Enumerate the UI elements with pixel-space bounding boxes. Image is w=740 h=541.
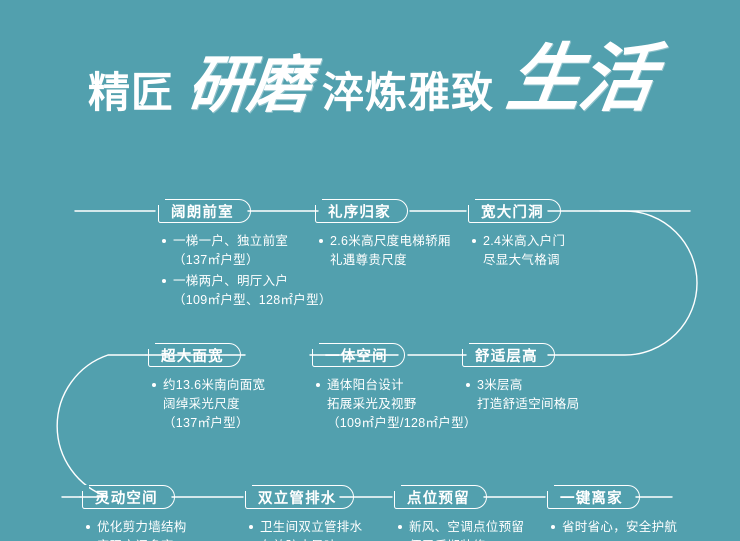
bullet-sub-line: 实现空间多变 bbox=[97, 537, 187, 541]
headline-segment-4: 生活 bbox=[503, 42, 657, 116]
bullet-sub-line: 礼遇尊贵尺度 bbox=[330, 251, 451, 270]
bullet-main-line: 新风、空调点位预留 bbox=[409, 518, 524, 537]
feature-bullets: 新风、空调点位预留 便于后期装修 bbox=[394, 518, 524, 541]
bullet-dot-icon bbox=[319, 239, 323, 243]
bullet-main-line: 卫生间双立管排水 bbox=[260, 518, 362, 537]
bullet-main-line: 一梯两户、明厅入户 bbox=[173, 272, 332, 291]
bullet-text: 卫生间双立管排水 有效防止异味 bbox=[260, 518, 362, 541]
bullet-item: 一梯一户、独立前室 （137㎡户型） bbox=[162, 232, 332, 270]
page-title: 精匠 研磨 淬炼雅致 生活 bbox=[0, 34, 740, 144]
bullet-text: 新风、空调点位预留 便于后期装修 bbox=[409, 518, 524, 541]
feature-block-kuanda-mendong[interactable]: 宽大门洞 2.4米高入户门 尽显大气格调 bbox=[468, 199, 565, 272]
bullet-text: 2.4米高入户门 尽显大气格调 bbox=[483, 232, 565, 270]
feature-label-chip[interactable]: 灵动空间 bbox=[82, 485, 175, 509]
feature-block-kuolang-qianshi[interactable]: 阔朗前室 一梯一户、独立前室 （137㎡户型） 一梯两户、明厅入户 （109㎡户… bbox=[158, 199, 332, 312]
bullet-dot-icon bbox=[249, 525, 253, 529]
feature-block-yiti-kongjian[interactable]: 一体空间 通体阳台设计 拓展采光及视野 （109㎡户型/128㎡户型） bbox=[312, 343, 477, 435]
bullet-item: 约13.6米南向面宽 阔绰采光尺度 （137㎡户型） bbox=[152, 376, 265, 433]
bullet-main-line: 一梯一户、独立前室 bbox=[173, 232, 332, 251]
feature-bullets: 优化剪力墙结构 实现空间多变 bbox=[82, 518, 187, 541]
feature-block-lixu-guijia[interactable]: 礼序归家 2.6米高尺度电梯轿厢 礼遇尊贵尺度 bbox=[315, 199, 451, 272]
bullet-item: 2.4米高入户门 尽显大气格调 bbox=[472, 232, 565, 270]
bullet-sub-line: （137㎡户型） bbox=[163, 414, 265, 433]
bullet-main-line: 2.4米高入户门 bbox=[483, 232, 565, 251]
bullet-dot-icon bbox=[86, 525, 90, 529]
bullet-dot-icon bbox=[472, 239, 476, 243]
feature-block-dianwei-yuliu[interactable]: 点位预留 新风、空调点位预留 便于后期装修 bbox=[394, 485, 524, 541]
bullet-sub-line: 便于后期装修 bbox=[409, 537, 524, 541]
bullet-dot-icon bbox=[466, 383, 470, 387]
feature-label-chip[interactable]: 舒适层高 bbox=[462, 343, 555, 367]
feature-label-chip[interactable]: 阔朗前室 bbox=[158, 199, 251, 223]
bullet-item: 省时省心，安全护航 bbox=[551, 518, 677, 537]
feature-bullets: 3米层高 打造舒适空间格局 bbox=[462, 376, 579, 414]
connector-left-uturn bbox=[57, 355, 146, 497]
bullet-item: 2.6米高尺度电梯轿厢 礼遇尊贵尺度 bbox=[319, 232, 451, 270]
feature-label-chip[interactable]: 双立管排水 bbox=[245, 485, 354, 509]
feature-bullets: 2.4米高入户门 尽显大气格调 bbox=[468, 232, 565, 270]
bullet-sub-line: （109㎡户型/128㎡户型） bbox=[327, 414, 477, 433]
headline-segment-2: 研磨 bbox=[185, 54, 312, 116]
bullet-text: 优化剪力墙结构 实现空间多变 bbox=[97, 518, 187, 541]
bullet-main-line: 省时省心，安全护航 bbox=[562, 518, 677, 537]
bullet-main-line: 通体阳台设计 bbox=[327, 376, 477, 395]
feature-block-shuanglitguan-paishui[interactable]: 双立管排水 卫生间双立管排水 有效防止异味 bbox=[245, 485, 362, 541]
feature-block-chaoda-miankuan[interactable]: 超大面宽 约13.6米南向面宽 阔绰采光尺度 （137㎡户型） bbox=[148, 343, 265, 435]
bullet-main-line: 约13.6米南向面宽 bbox=[163, 376, 265, 395]
bullet-main-line: 优化剪力墙结构 bbox=[97, 518, 187, 537]
bullet-text: 一梯一户、独立前室 （137㎡户型） bbox=[173, 232, 332, 270]
feature-block-yijian-lijia[interactable]: 一键离家 省时省心，安全护航 bbox=[547, 485, 677, 539]
feature-bullets: 2.6米高尺度电梯轿厢 礼遇尊贵尺度 bbox=[315, 232, 451, 270]
feature-bullets: 省时省心，安全护航 bbox=[547, 518, 677, 537]
bullet-item: 卫生间双立管排水 有效防止异味 bbox=[249, 518, 362, 541]
bullet-sub-line: （137㎡户型） bbox=[173, 251, 332, 270]
headline-segment-3: 淬炼雅致 bbox=[322, 72, 494, 114]
feature-block-lingdong-kongjian[interactable]: 灵动空间 优化剪力墙结构 实现空间多变 bbox=[82, 485, 187, 541]
feature-label-chip[interactable]: 超大面宽 bbox=[148, 343, 241, 367]
bullet-item: 通体阳台设计 拓展采光及视野 （109㎡户型/128㎡户型） bbox=[316, 376, 477, 433]
feature-block-shushi-cenggao[interactable]: 舒适层高 3米层高 打造舒适空间格局 bbox=[462, 343, 579, 416]
bullet-dot-icon bbox=[398, 525, 402, 529]
feature-bullets: 一梯一户、独立前室 （137㎡户型） 一梯两户、明厅入户 （109㎡户型、128… bbox=[158, 232, 332, 310]
feature-label-chip[interactable]: 宽大门洞 bbox=[468, 199, 561, 223]
bullet-sub-line: 拓展采光及视野 bbox=[327, 395, 477, 414]
bullet-item: 3米层高 打造舒适空间格局 bbox=[466, 376, 579, 414]
bullet-text: 一梯两户、明厅入户 （109㎡户型、128㎡户型） bbox=[173, 272, 332, 310]
bullet-sub-line: 尽显大气格调 bbox=[483, 251, 565, 270]
bullet-dot-icon bbox=[162, 239, 166, 243]
bullet-main-line: 3米层高 bbox=[477, 376, 579, 395]
bullet-sub-line: （109㎡户型、128㎡户型） bbox=[173, 291, 332, 310]
bullet-item: 新风、空调点位预留 便于后期装修 bbox=[398, 518, 524, 541]
bullet-sub-line: 打造舒适空间格局 bbox=[477, 395, 579, 414]
bullet-dot-icon bbox=[551, 525, 555, 529]
bullet-text: 约13.6米南向面宽 阔绰采光尺度 （137㎡户型） bbox=[163, 376, 265, 433]
bullet-text: 省时省心，安全护航 bbox=[562, 518, 677, 537]
connector-right-uturn bbox=[548, 211, 697, 355]
feature-label-chip[interactable]: 一体空间 bbox=[312, 343, 405, 367]
feature-bullets: 约13.6米南向面宽 阔绰采光尺度 （137㎡户型） bbox=[148, 376, 265, 433]
feature-bullets: 卫生间双立管排水 有效防止异味 bbox=[245, 518, 362, 541]
bullet-text: 3米层高 打造舒适空间格局 bbox=[477, 376, 579, 414]
bullet-text: 通体阳台设计 拓展采光及视野 （109㎡户型/128㎡户型） bbox=[327, 376, 477, 433]
bullet-item: 优化剪力墙结构 实现空间多变 bbox=[86, 518, 187, 541]
bullet-sub-line: 阔绰采光尺度 bbox=[163, 395, 265, 414]
bullet-text: 2.6米高尺度电梯轿厢 礼遇尊贵尺度 bbox=[330, 232, 451, 270]
bullet-dot-icon bbox=[152, 383, 156, 387]
bullet-dot-icon bbox=[162, 279, 166, 283]
headline-segment-1: 精匠 bbox=[88, 72, 174, 114]
bullet-sub-line: 有效防止异味 bbox=[260, 537, 362, 541]
bullet-item: 一梯两户、明厅入户 （109㎡户型、128㎡户型） bbox=[162, 272, 332, 310]
feature-bullets: 通体阳台设计 拓展采光及视野 （109㎡户型/128㎡户型） bbox=[312, 376, 477, 433]
feature-label-chip[interactable]: 点位预留 bbox=[394, 485, 487, 509]
bullet-dot-icon bbox=[316, 383, 320, 387]
feature-label-chip[interactable]: 礼序归家 bbox=[315, 199, 408, 223]
bullet-main-line: 2.6米高尺度电梯轿厢 bbox=[330, 232, 451, 251]
feature-label-chip[interactable]: 一键离家 bbox=[547, 485, 640, 509]
